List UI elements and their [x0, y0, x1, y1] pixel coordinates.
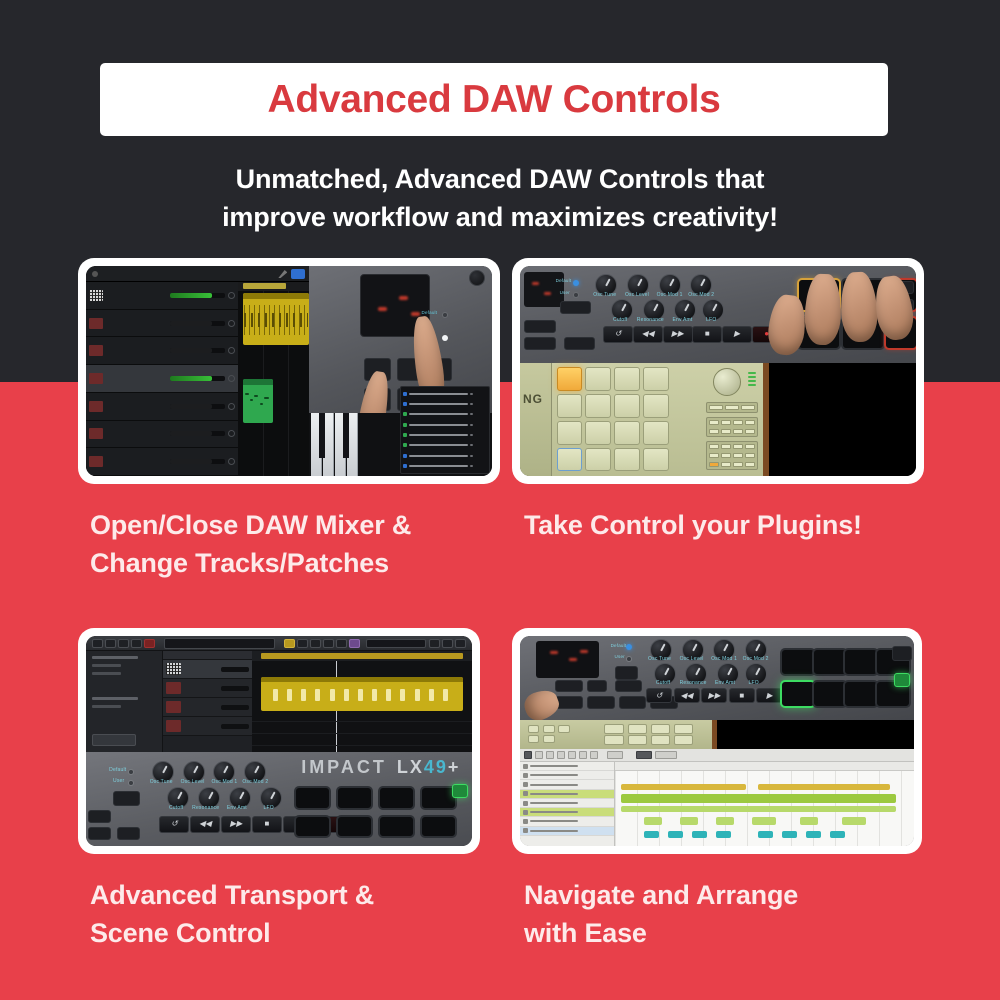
kong-matrix-1[interactable] [706, 417, 757, 437]
preset-button[interactable] [615, 680, 643, 693]
controller-photo-region: Default User Octave/Shift Null Pad Learn [309, 266, 492, 476]
kong-pad[interactable] [585, 367, 611, 391]
feature-card-navigate: Default User Osc Tune Osc Level [512, 628, 922, 952]
midi-clip[interactable] [243, 379, 273, 423]
list-item[interactable] [520, 790, 614, 799]
kong-pad[interactable] [614, 367, 640, 391]
instrument-icon [89, 318, 103, 329]
track-menubar[interactable] [163, 651, 252, 660]
drum-pad[interactable] [420, 815, 457, 839]
screenshot-plugin-control: Default User Osc Tune Osc Level Osc Mod … [520, 266, 916, 476]
user-led-icon [128, 780, 134, 786]
toolbar-badge [291, 269, 305, 279]
kong-controls [705, 366, 759, 473]
track-fader[interactable] [221, 686, 249, 691]
controller-top-panel: Default User Osc Tune Osc Level Osc Mod … [520, 266, 916, 363]
arrange-lane-area[interactable] [252, 651, 472, 752]
track-prev-button[interactable] [88, 827, 111, 840]
list-item[interactable] [520, 780, 614, 789]
kong-pad-grid[interactable] [557, 367, 669, 471]
midi-clip[interactable] [261, 677, 463, 711]
track-row[interactable] [163, 679, 252, 698]
play-button[interactable]: ▶ [756, 688, 782, 703]
drum-pad-active[interactable] [780, 680, 816, 708]
screenshot-navigate-arrange: Default User Osc Tune Osc Level [520, 636, 914, 846]
track-row[interactable] [163, 698, 252, 717]
page-subtitle: Unmatched, Advanced DAW Controls that im… [0, 160, 1000, 236]
track-header-list[interactable] [520, 762, 615, 846]
drum-pad[interactable] [336, 786, 373, 810]
empty-plugin-area [769, 363, 916, 476]
arrange-timeline[interactable] [615, 762, 914, 846]
user-led-icon [442, 335, 448, 341]
drum-pad[interactable] [780, 648, 816, 676]
inspector-panel[interactable] [86, 651, 163, 752]
default-led-icon [573, 280, 579, 286]
track-fader[interactable] [221, 705, 249, 710]
default-led-icon [128, 769, 134, 775]
audio-clip[interactable] [243, 293, 309, 345]
caption-line-1: Take Control your Plugins! [524, 506, 924, 544]
stop-button[interactable]: ■ [729, 688, 755, 703]
list-item[interactable] [403, 399, 487, 409]
kong-logo: NG [523, 392, 543, 406]
photo-frame: IMPACT LX49+ Default User Osc Tune [78, 628, 480, 854]
list-item[interactable] [403, 409, 487, 419]
track-pan-knob[interactable] [228, 430, 235, 437]
clip[interactable] [782, 831, 797, 838]
loop-button[interactable]: ↺ [646, 688, 672, 703]
track-row[interactable] [86, 393, 238, 421]
mixer-button[interactable] [88, 810, 111, 823]
screenshot-daw-mixer: Default User Octave/Shift Null Pad Learn [86, 266, 492, 476]
photo-frame: Default User Osc Tune Osc Level [512, 628, 922, 854]
kong-pad[interactable] [643, 421, 669, 445]
clip[interactable] [668, 831, 683, 838]
track-pan-knob[interactable] [228, 347, 235, 354]
loop-button[interactable]: ↺ [159, 816, 189, 833]
arrange-view [520, 749, 914, 846]
kong-sidebar: NG [520, 363, 552, 476]
kong-pad[interactable] [643, 448, 669, 472]
timeline-ruler[interactable] [252, 651, 472, 661]
patch-list-popup[interactable] [400, 386, 490, 474]
track-row[interactable] [86, 337, 238, 365]
track-row-selected[interactable] [163, 660, 252, 679]
kong-pad[interactable] [557, 421, 583, 445]
clip[interactable] [621, 806, 896, 812]
kong-pad[interactable] [557, 448, 583, 472]
list-item[interactable] [520, 817, 614, 826]
rewind-button[interactable]: ◀◀ [190, 816, 220, 833]
user-led-icon [626, 656, 632, 662]
forward-button[interactable]: ▶▶ [701, 688, 727, 703]
default-led-icon [442, 312, 448, 318]
list-item[interactable] [403, 430, 487, 440]
list-item[interactable] [403, 461, 487, 471]
card-caption: Take Control your Plugins! [512, 506, 924, 544]
caption-line-2: Scene Control [90, 914, 480, 952]
screenshot-transport-control: IMPACT LX49+ Default User Osc Tune [86, 636, 472, 846]
scene-button[interactable] [452, 784, 468, 798]
drum-plugin-panel: NG [520, 363, 916, 476]
clip-header [243, 293, 309, 299]
finger [804, 273, 842, 346]
kong-pad[interactable] [614, 448, 640, 472]
scene-button[interactable] [894, 673, 910, 687]
kong-pad[interactable] [614, 394, 640, 418]
list-item[interactable] [403, 389, 487, 399]
clip[interactable] [621, 794, 896, 803]
instrument-icon [89, 373, 103, 384]
caption-line-2: with Ease [524, 914, 922, 952]
forward-button[interactable]: ▶▶ [663, 326, 693, 343]
kong-pad[interactable] [643, 394, 669, 418]
master-level-knob[interactable] [713, 368, 741, 396]
controller-panel: IMPACT LX49+ Default User Osc Tune [86, 752, 472, 847]
title-banner: Advanced DAW Controls [100, 63, 888, 136]
caption-line-1: Open/Close DAW Mixer & [90, 506, 500, 544]
kong-plugin-strip [520, 720, 717, 749]
kong-button-panel[interactable] [706, 402, 757, 413]
user-led-icon [573, 292, 579, 298]
play-button[interactable]: ▶ [722, 326, 752, 343]
forward-button[interactable]: ▶▶ [221, 816, 251, 833]
instrument-icon [89, 345, 103, 356]
instrument-icon [89, 456, 103, 467]
instrument-icon [89, 428, 103, 439]
list-item[interactable] [403, 450, 487, 460]
clip[interactable] [758, 831, 773, 838]
track-next-button[interactable] [117, 827, 140, 840]
rewind-button[interactable]: ◀◀ [633, 326, 663, 343]
clip[interactable] [752, 817, 776, 825]
kong-pad[interactable] [614, 421, 640, 445]
kong-pad[interactable] [585, 421, 611, 445]
caption-line-1: Navigate and Arrange [524, 876, 922, 914]
drum-pad[interactable] [843, 648, 879, 676]
stop-button[interactable]: ■ [252, 816, 282, 833]
clip[interactable] [716, 817, 734, 825]
track-fader[interactable] [170, 348, 226, 353]
track-row[interactable] [86, 421, 238, 449]
clip[interactable] [680, 817, 698, 825]
track-pan-knob[interactable] [228, 375, 235, 382]
drum-kit-icon [166, 663, 181, 675]
drum-pad[interactable] [294, 786, 331, 810]
pad-grid[interactable] [294, 786, 456, 839]
infographic-page: Advanced DAW Controls Unmatched, Advance… [0, 0, 1000, 1000]
page-title: Advanced DAW Controls [267, 78, 720, 122]
ruler-selection [243, 283, 287, 289]
clip[interactable] [830, 831, 845, 838]
track-fader[interactable] [170, 321, 226, 326]
inspector-button[interactable] [92, 734, 136, 746]
track-prev-button[interactable] [524, 337, 556, 350]
track-row[interactable] [86, 448, 238, 476]
drum-pad[interactable] [843, 680, 879, 708]
track-fader[interactable] [170, 376, 226, 381]
track-list[interactable] [163, 651, 252, 752]
controller-brand: IMPACT LX49+ [301, 757, 460, 778]
arrange-lane-area[interactable] [238, 282, 313, 476]
track-next-button[interactable] [564, 337, 596, 350]
track-row[interactable] [86, 282, 238, 310]
drum-pad[interactable] [336, 815, 373, 839]
clip[interactable] [806, 831, 821, 838]
clip[interactable] [716, 831, 731, 838]
page-button[interactable] [113, 791, 140, 806]
list-item[interactable] [520, 808, 614, 817]
drum-pad[interactable] [294, 815, 331, 839]
daw-panel [86, 266, 313, 476]
list-item[interactable] [520, 771, 614, 780]
plugin-strip [520, 720, 914, 749]
drum-pad[interactable] [378, 815, 415, 839]
card-caption: Navigate and Arrange with Ease [512, 876, 922, 952]
track-next-button[interactable] [587, 696, 615, 709]
track-pan-knob[interactable] [228, 403, 235, 410]
daw-panel [86, 636, 472, 752]
kong-pad[interactable] [643, 367, 669, 391]
clip[interactable] [644, 831, 659, 838]
daw-toolbar[interactable] [86, 636, 472, 651]
feature-card-transport: IMPACT LX49+ Default User Osc Tune [78, 628, 480, 952]
arrange-toolbar[interactable] [520, 749, 914, 762]
drum-pad[interactable] [378, 786, 415, 810]
track-fader[interactable] [170, 431, 226, 436]
instrument-icon [166, 701, 181, 713]
list-item[interactable] [520, 762, 614, 771]
kong-pad[interactable] [557, 394, 583, 418]
track-row-selected[interactable] [86, 365, 238, 393]
card-caption: Open/Close DAW Mixer & Change Tracks/Pat… [78, 506, 500, 582]
inst-button[interactable] [587, 680, 607, 693]
mixer-button[interactable] [555, 680, 583, 693]
track-fader[interactable] [221, 724, 249, 729]
feature-card-plugins: Default User Osc Tune Osc Level Osc Mod … [512, 258, 924, 544]
rewind-button[interactable]: ◀◀ [674, 688, 700, 703]
waveform-body [244, 313, 307, 327]
daw-toolbar [86, 266, 313, 282]
instrument-icon [166, 682, 181, 694]
default-led-icon [626, 644, 632, 650]
clip[interactable] [644, 817, 662, 825]
clip-header [261, 677, 463, 682]
timeline-ruler[interactable] [615, 762, 914, 771]
track-row[interactable] [163, 717, 252, 736]
kong-plugin: NG [520, 363, 769, 476]
track-fader[interactable] [170, 404, 226, 409]
brand-name: IMPACT [301, 757, 387, 778]
caption-line-2: Change Tracks/Patches [90, 544, 500, 582]
clip[interactable] [800, 817, 818, 825]
side-button[interactable] [892, 646, 912, 661]
controller-knob[interactable] [469, 270, 485, 286]
track-pan-knob[interactable] [228, 458, 235, 465]
subtitle-line-2: improve workflow and maximizes creativit… [0, 198, 1000, 236]
timeline-ruler[interactable] [238, 282, 313, 291]
instrument-icon [89, 401, 103, 412]
list-item[interactable] [520, 799, 614, 808]
track-pan-knob[interactable] [228, 292, 235, 299]
kong-pad[interactable] [585, 448, 611, 472]
photo-frame: Default User Octave/Shift Null Pad Learn [78, 258, 500, 484]
pencil-icon [278, 270, 287, 278]
caption-line-1: Advanced Transport & [90, 876, 480, 914]
transport-display [164, 638, 275, 649]
track-fader[interactable] [170, 459, 226, 464]
track-fader[interactable] [170, 293, 226, 298]
drum-pad[interactable] [420, 786, 457, 810]
clip[interactable] [758, 784, 890, 790]
controller-panel: Default User Osc Tune Osc Level [520, 636, 914, 720]
patch-prev-button[interactable] [619, 696, 647, 709]
kong-matrix-2[interactable] [706, 441, 757, 470]
clip[interactable] [692, 831, 707, 838]
feature-card-daw-mixer: Default User Octave/Shift Null Pad Learn [78, 258, 500, 582]
drum-kit-icon [89, 290, 103, 301]
clip-header [243, 379, 273, 385]
kong-pad[interactable] [585, 394, 611, 418]
card-caption: Advanced Transport & Scene Control [78, 876, 480, 952]
toolbar-readout [366, 639, 426, 648]
track-pan-knob[interactable] [228, 320, 235, 327]
level-meter [748, 372, 757, 388]
page-button[interactable] [560, 301, 592, 315]
loop-button[interactable]: ↺ [603, 326, 633, 343]
page-button[interactable] [615, 666, 639, 679]
track-fader[interactable] [221, 667, 249, 672]
subtitle-line-1: Unmatched, Advanced DAW Controls that [0, 160, 1000, 198]
track-row[interactable] [86, 310, 238, 338]
clip[interactable] [621, 784, 747, 790]
kong-pad[interactable] [557, 367, 583, 391]
photo-frame: Default User Osc Tune Osc Level Osc Mod … [512, 258, 924, 484]
model-name: LX49+ [397, 757, 461, 778]
list-item[interactable] [403, 440, 487, 450]
track-prev-button[interactable] [555, 696, 583, 709]
list-item[interactable] [520, 827, 614, 836]
menu-dot-icon [92, 271, 98, 277]
clip[interactable] [842, 817, 866, 825]
instrument-icon [166, 720, 181, 732]
list-item[interactable] [403, 420, 487, 430]
stop-button[interactable]: ■ [692, 326, 722, 343]
track-list[interactable] [86, 282, 238, 476]
controller-display [536, 641, 599, 678]
mixer-button[interactable] [524, 320, 556, 333]
